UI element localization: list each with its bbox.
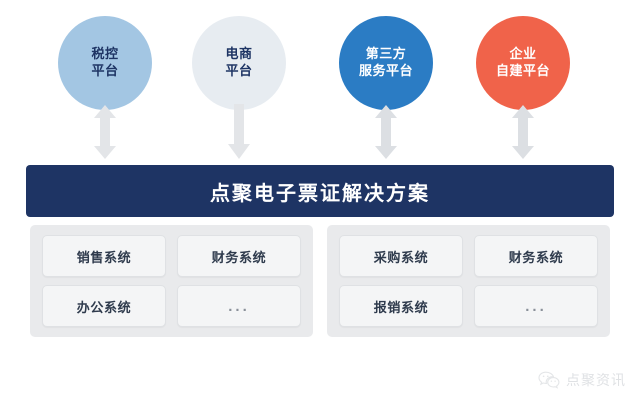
banner-title: 点聚电子票证解决方案	[210, 177, 430, 206]
watermark-text: 点聚资讯	[566, 370, 626, 390]
platform-label-line2: 服务平台	[359, 63, 413, 80]
system-box[interactable]: 报销系统	[339, 285, 463, 327]
solution-banner: 点聚电子票证解决方案	[26, 165, 614, 217]
watermark: 点聚资讯	[538, 370, 626, 390]
platform-label-line2: 平台	[91, 63, 118, 80]
platform-circle-ecommerce[interactable]: 电商 平台	[192, 16, 286, 110]
platform-row: 税控 平台 电商 平台 第三方	[52, 16, 592, 164]
double-arrow-up-down-icon	[333, 104, 439, 162]
platform-label-line2: 自建平台	[496, 63, 550, 80]
system-box[interactable]: 财务系统	[474, 235, 598, 277]
platform-circle-enterprise-self-built[interactable]: 企业 自建平台	[476, 16, 570, 110]
platform-node-enterprise-self-built[interactable]: 企业 自建平台	[470, 16, 576, 164]
system-panel-procurement-side: 采购系统 财务系统 报销系统 ...	[327, 225, 610, 337]
arrow-down-icon	[186, 104, 292, 162]
platform-label-line1: 第三方	[366, 46, 407, 63]
double-arrow-up-down-icon	[470, 104, 576, 162]
platform-circle-third-party-service[interactable]: 第三方 服务平台	[339, 16, 433, 110]
platform-label-line2: 平台	[225, 63, 252, 80]
platform-node-ecommerce[interactable]: 电商 平台	[186, 16, 292, 164]
system-panel-sales-side: 销售系统 财务系统 办公系统 ...	[30, 225, 313, 337]
system-box[interactable]: 财务系统	[177, 235, 301, 277]
system-panels: 销售系统 财务系统 办公系统 ... 采购系统 财务系统 报销系统 ...	[30, 225, 610, 337]
system-box[interactable]: 办公系统	[42, 285, 166, 327]
double-arrow-up-down-icon	[52, 104, 158, 162]
system-box[interactable]: 销售系统	[42, 235, 166, 277]
platform-label-line1: 电商	[225, 46, 252, 63]
platform-node-third-party-service[interactable]: 第三方 服务平台	[333, 16, 439, 164]
system-box-more[interactable]: ...	[474, 285, 598, 327]
platform-label-line1: 企业	[509, 46, 536, 63]
platform-circle-tax-control[interactable]: 税控 平台	[58, 16, 152, 110]
solution-architecture-diagram: 税控 平台 电商 平台 第三方	[0, 0, 640, 400]
wechat-icon	[538, 371, 560, 390]
system-box[interactable]: 采购系统	[339, 235, 463, 277]
platform-label-line1: 税控	[91, 46, 118, 63]
system-box-more[interactable]: ...	[177, 285, 301, 327]
platform-node-tax-control[interactable]: 税控 平台	[52, 16, 158, 164]
